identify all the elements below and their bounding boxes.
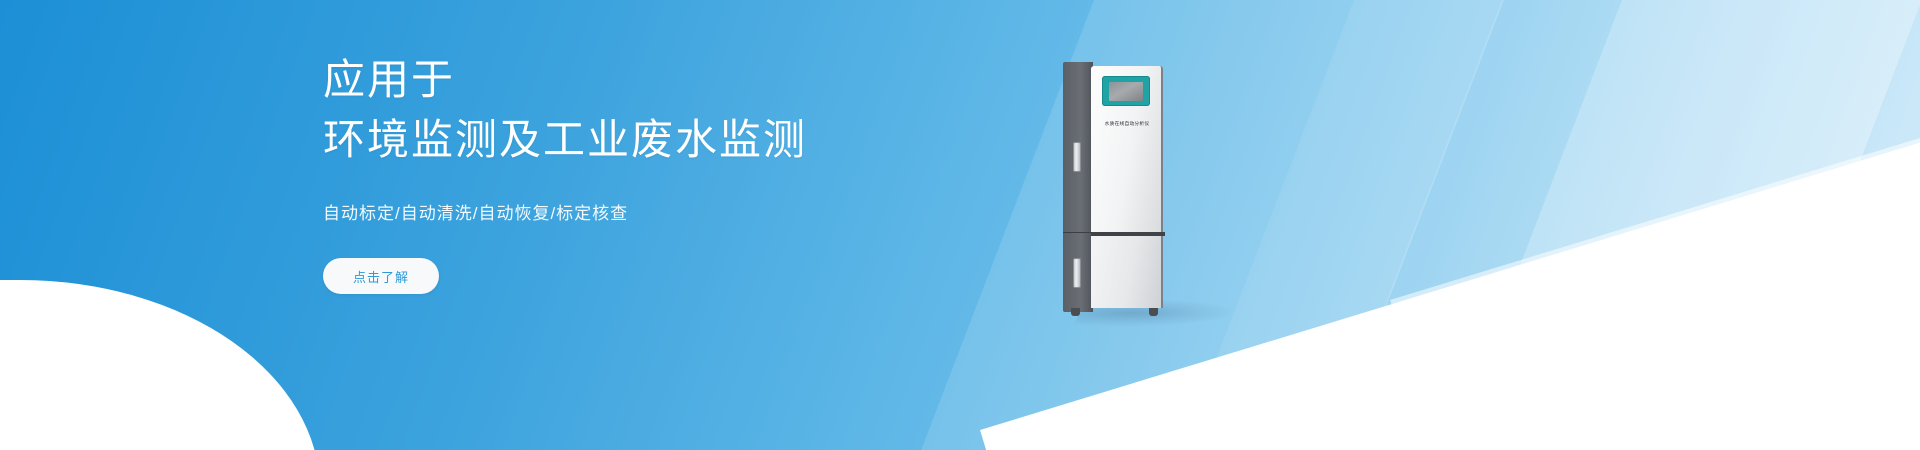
device-side-seam <box>1063 232 1093 233</box>
device-foot-right <box>1149 308 1158 316</box>
device-upper-handle <box>1073 142 1081 172</box>
water-quality-analyzer-image: 水质在线自动分析仪 <box>1063 62 1167 312</box>
device-screen-bezel <box>1102 76 1150 106</box>
device-foot-left <box>1071 308 1080 316</box>
device-lower-cabinet <box>1091 236 1163 308</box>
device-display-screen <box>1109 82 1143 101</box>
learn-more-button[interactable]: 点击了解 <box>323 258 439 294</box>
headline-line-2: 环境监测及工业废水监测 <box>323 110 1083 170</box>
headline-line-1: 应用于 <box>323 50 1083 110</box>
banner-content: 应用于 环境监测及工业废水监测 自动标定/自动清洗/自动恢复/标定核查 点击了解 <box>323 50 1083 294</box>
banner-subtitle: 自动标定/自动清洗/自动恢复/标定核查 <box>323 199 1083 224</box>
device-lower-handle <box>1073 258 1081 288</box>
device-upper-cabinet: 水质在线自动分析仪 <box>1091 66 1163 234</box>
device-label-text: 水质在线自动分析仪 <box>1094 122 1161 127</box>
page-title: 应用于 环境监测及工业废水监测 <box>323 50 1083 169</box>
hero-banner: 应用于 环境监测及工业废水监测 自动标定/自动清洗/自动恢复/标定核查 点击了解… <box>0 0 1920 450</box>
